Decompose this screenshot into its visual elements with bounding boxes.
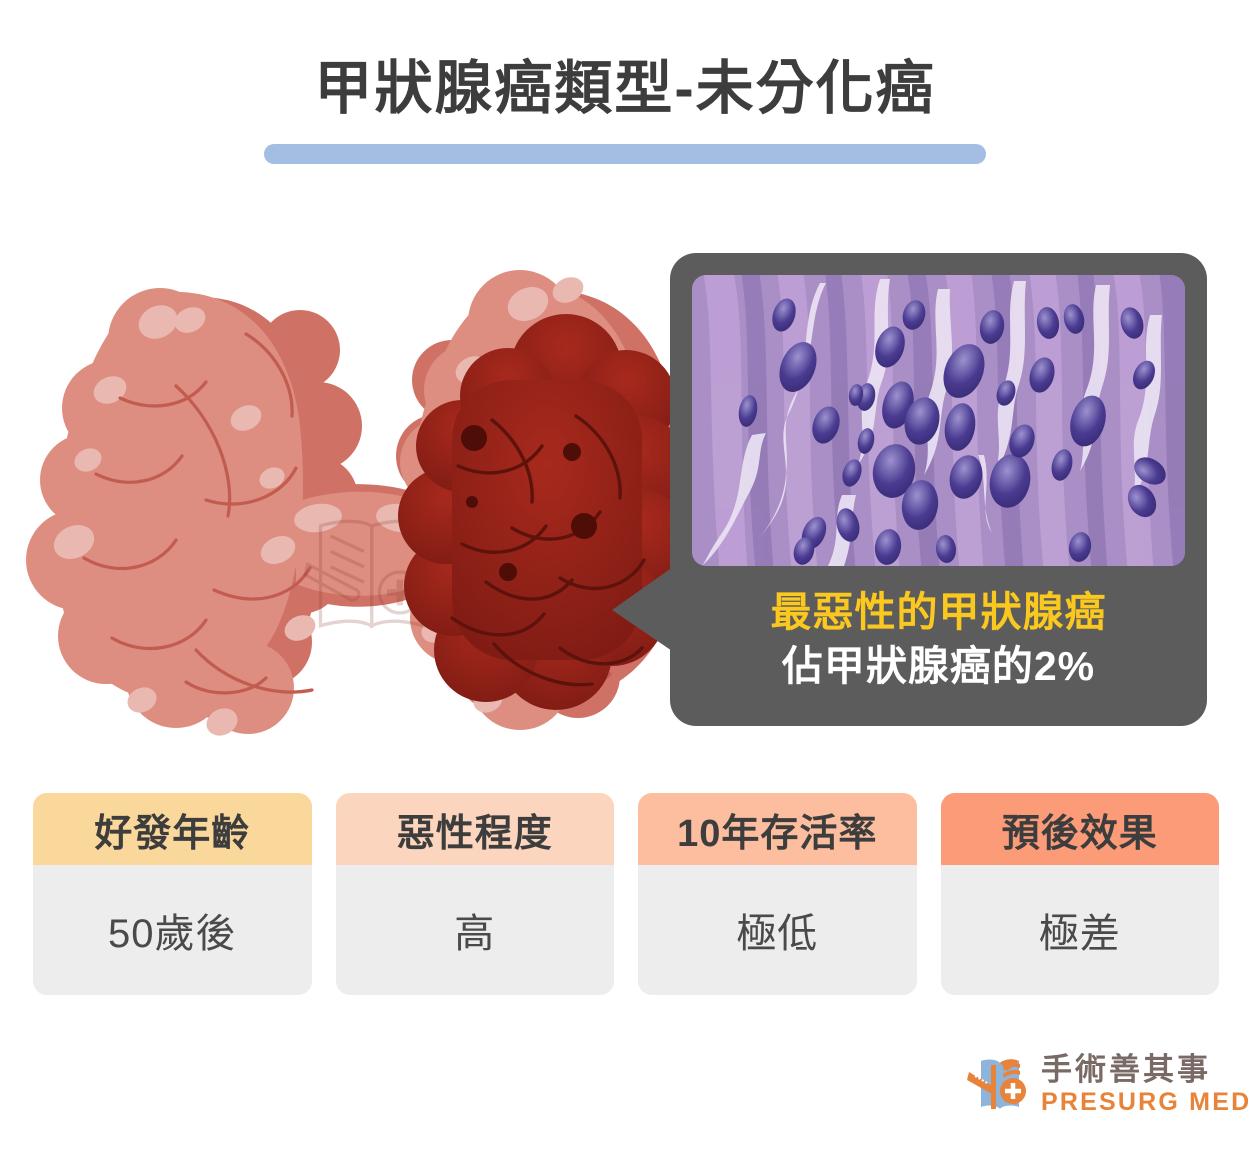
logo-english-name: PRESURG MEDIA: [1041, 1090, 1250, 1115]
logo-chinese-name: 手術善其事: [1041, 1054, 1250, 1085]
callout-text-block: 最惡性的甲狀腺癌 佔甲狀腺癌的2%: [692, 588, 1185, 691]
histology-image-frame: [692, 275, 1185, 566]
stat-card-malignancy: 惡性程度 高: [336, 793, 615, 995]
stat-card-header: 好發年齡: [33, 793, 312, 865]
brand-logo: 手術善其事 PRESURG MEDIA: [967, 1049, 1250, 1119]
stat-card-header: 10年存活率: [638, 793, 917, 865]
stat-card-ten-year-survival: 10年存活率 極低: [638, 793, 917, 995]
presurg-book-scalpel-icon: [967, 1049, 1029, 1119]
stat-card-header: 惡性程度: [336, 793, 615, 865]
logo-text-block: 手術善其事 PRESURG MEDIA: [1041, 1054, 1250, 1115]
stat-card-value: 極低: [638, 865, 917, 995]
stat-card-value: 高: [336, 865, 615, 995]
stat-card-row: 好發年齡 50歲後 惡性程度 高 10年存活率 極低 預後效果 極差: [33, 793, 1219, 995]
callout-subline: 佔甲狀腺癌的2%: [692, 642, 1185, 690]
stat-card-onset-age: 好發年齡 50歲後: [33, 793, 312, 995]
stat-card-prognosis: 預後效果 極差: [941, 793, 1220, 995]
title-underline-bar: [264, 144, 986, 164]
callout-card: 最惡性的甲狀腺癌 佔甲狀腺癌的2%: [670, 253, 1207, 726]
stat-card-header: 預後效果: [941, 793, 1220, 865]
page-title: 甲狀腺癌類型-未分化癌: [0, 56, 1250, 123]
callout-headline: 最惡性的甲狀腺癌: [692, 588, 1185, 636]
stat-card-value: 極差: [941, 865, 1220, 995]
title-block: 甲狀腺癌類型-未分化癌: [0, 56, 1250, 164]
anaplastic-carcinoma-histology-image: [692, 275, 1185, 566]
stat-card-value: 50歲後: [33, 865, 312, 995]
